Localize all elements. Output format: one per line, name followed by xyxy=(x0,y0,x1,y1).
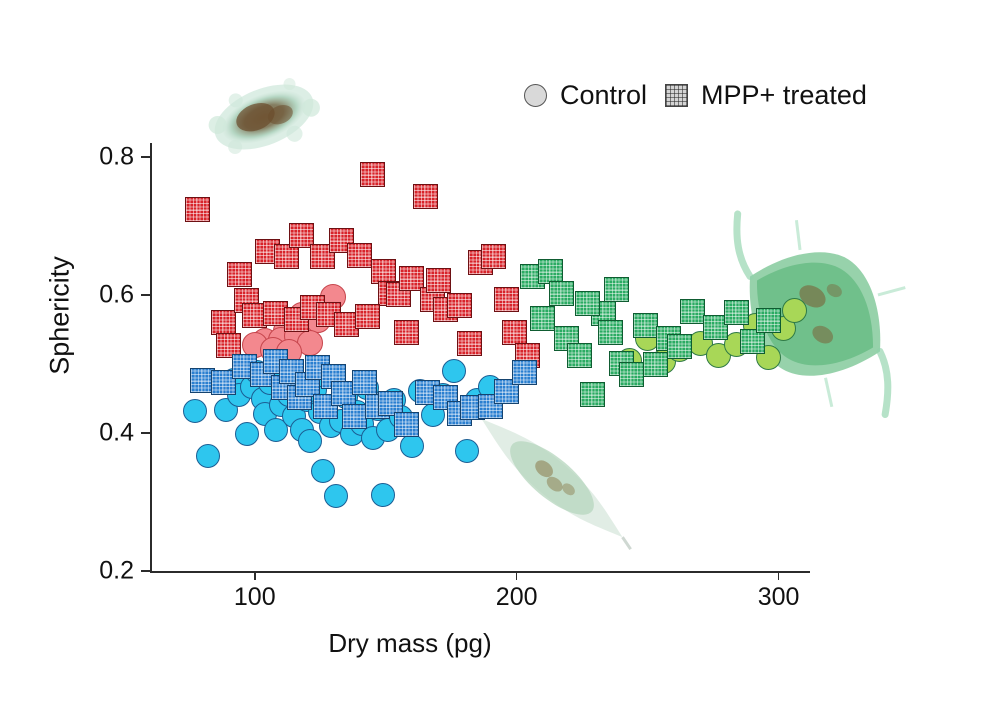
x-axis-label-text: Dry mass (pg) xyxy=(328,628,491,658)
data-point xyxy=(457,331,482,356)
data-point xyxy=(633,313,658,338)
circle-marker-icon xyxy=(524,84,547,107)
y-tick xyxy=(141,156,150,158)
legend-item-control[interactable]: Control xyxy=(524,80,647,111)
data-point xyxy=(455,439,479,463)
data-point xyxy=(680,299,705,324)
data-point xyxy=(667,334,692,359)
legend: Control MPP+ treated xyxy=(524,80,867,111)
x-tick xyxy=(254,571,256,580)
x-axis-line xyxy=(150,571,810,573)
data-point xyxy=(580,382,605,407)
data-point xyxy=(227,262,252,287)
data-point xyxy=(604,277,629,302)
data-point xyxy=(211,310,236,335)
y-tick-label: 0.2 xyxy=(99,557,134,586)
data-point xyxy=(549,281,574,306)
y-tick xyxy=(141,294,150,296)
data-point xyxy=(235,422,259,446)
data-point xyxy=(782,298,807,323)
data-point xyxy=(394,412,419,437)
data-point xyxy=(196,444,220,468)
data-point xyxy=(413,184,438,209)
y-tick xyxy=(141,432,150,434)
x-tick-label: 300 xyxy=(758,583,800,612)
data-point xyxy=(567,343,592,368)
x-tick-label: 200 xyxy=(496,583,538,612)
data-point xyxy=(447,293,472,318)
data-point xyxy=(426,268,451,293)
legend-label-control: Control xyxy=(560,80,647,111)
data-point xyxy=(575,291,600,316)
y-tick-label: 0.8 xyxy=(99,142,134,171)
rounded-cell-micrograph xyxy=(196,74,332,160)
x-tick-label: 100 xyxy=(234,583,276,612)
x-tick xyxy=(778,571,780,580)
data-point xyxy=(442,359,466,383)
data-point xyxy=(598,320,623,345)
data-point xyxy=(502,320,527,345)
data-point xyxy=(619,362,644,387)
data-point xyxy=(274,244,299,269)
legend-item-mpp-treated[interactable]: MPP+ treated xyxy=(665,80,867,111)
legend-label-mpp-treated: MPP+ treated xyxy=(701,80,867,111)
data-point xyxy=(371,483,395,507)
x-tick xyxy=(516,571,518,580)
scatter-plot-figure: 0.20.40.60.8100200300 Dry mass (pg) Sphe… xyxy=(0,0,1000,707)
y-axis-label: Sphericity xyxy=(45,186,76,446)
data-point xyxy=(400,434,424,458)
y-tick-label: 0.4 xyxy=(99,418,134,447)
data-point xyxy=(347,243,372,268)
x-axis-label: Dry mass (pg) xyxy=(0,628,1000,659)
y-tick xyxy=(141,570,150,572)
data-point xyxy=(355,304,380,329)
data-point xyxy=(183,399,207,423)
data-point xyxy=(311,459,335,483)
y-axis-line xyxy=(150,143,152,571)
data-point xyxy=(756,308,781,333)
data-point xyxy=(185,197,210,222)
data-point xyxy=(394,320,419,345)
data-point xyxy=(298,429,322,453)
data-point xyxy=(342,404,367,429)
data-point xyxy=(512,360,537,385)
data-point xyxy=(494,287,519,312)
data-point xyxy=(324,484,348,508)
data-point xyxy=(724,300,749,325)
data-point xyxy=(530,306,555,331)
data-point xyxy=(352,370,377,395)
data-point xyxy=(643,352,668,377)
hatched-square-marker-icon xyxy=(665,84,688,107)
data-point xyxy=(481,244,506,269)
data-point xyxy=(360,162,385,187)
y-tick-label: 0.6 xyxy=(99,280,134,309)
